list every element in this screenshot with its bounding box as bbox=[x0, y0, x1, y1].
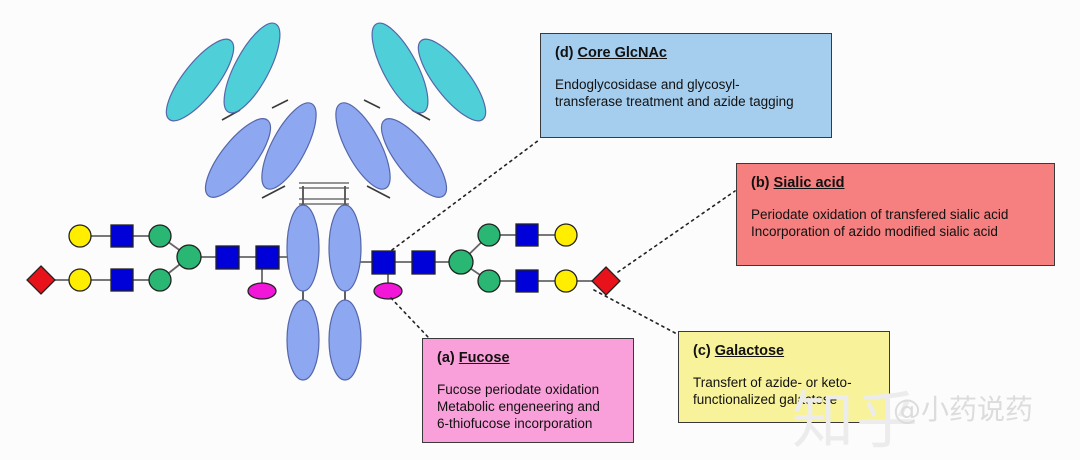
callout-tag: (c) bbox=[693, 343, 711, 359]
glycan-node-galactose bbox=[555, 224, 577, 246]
domain-ch3-left bbox=[287, 300, 319, 380]
connector-galactose-to-c bbox=[594, 290, 677, 334]
glycoengineering-figure: .dom { stroke: #5566aa; stroke-width: 1.… bbox=[0, 0, 1080, 458]
callout-body: Periodate oxidation of transfered sialic… bbox=[751, 206, 1040, 241]
callout-tag: (a) bbox=[437, 350, 455, 366]
glycan-node-mannose bbox=[478, 270, 500, 292]
glycan-node-mannose bbox=[478, 224, 500, 246]
domain-ch2-left bbox=[287, 205, 319, 291]
glycan-node-mannose bbox=[149, 269, 171, 291]
callout-tag: (b) bbox=[751, 175, 770, 191]
glycan-node-glcnac-core bbox=[372, 251, 395, 274]
callout-sialic-acid[interactable]: (b) Sialic acid Periodate oxidation of t… bbox=[736, 163, 1055, 266]
callout-title: (d) Core GlcNAc bbox=[555, 46, 817, 62]
hinge-disulfide-bonds bbox=[299, 183, 349, 204]
glycan-node-mannose-core bbox=[177, 245, 201, 269]
callout-name: Sialic acid bbox=[774, 175, 845, 191]
callout-title: (b) Sialic acid bbox=[751, 176, 1040, 192]
connector-sialic-to-b bbox=[618, 191, 735, 272]
callout-tag: (d) bbox=[555, 45, 574, 61]
callout-body: Transfert of azide- or keto- functionali… bbox=[693, 374, 875, 409]
glycan-node-galactose bbox=[69, 269, 91, 291]
callout-title: (a) Fucose bbox=[437, 351, 619, 367]
callout-title: (c) Galactose bbox=[693, 344, 875, 360]
glycan-node-mannose bbox=[149, 225, 171, 247]
glycan-node-galactose bbox=[69, 225, 91, 247]
glycan-right bbox=[360, 224, 620, 299]
glycan-left bbox=[27, 225, 288, 299]
callout-name: Fucose bbox=[459, 350, 510, 366]
callout-galactose[interactable]: (c) Galactose Transfert of azide- or ket… bbox=[678, 331, 890, 423]
glycan-node-glcnac bbox=[516, 224, 538, 246]
callout-name: Galactose bbox=[715, 343, 784, 359]
callout-body: Fucose periodate oxidation Metabolic eng… bbox=[437, 381, 619, 433]
glycan-node-glcnac bbox=[111, 269, 133, 291]
glycan-node-fucose bbox=[374, 283, 402, 299]
callout-core-glcnac[interactable]: (d) Core GlcNAc Endoglycosidase and glyc… bbox=[540, 33, 832, 138]
glycan-node-glcnac bbox=[111, 225, 133, 247]
glycan-node-fucose bbox=[248, 283, 276, 299]
domain-ch3-right bbox=[329, 300, 361, 380]
callout-fucose[interactable]: (a) Fucose Fucose periodate oxidation Me… bbox=[422, 338, 634, 443]
callout-name: Core GlcNAc bbox=[578, 45, 667, 61]
antibody-domains bbox=[156, 16, 496, 380]
callout-body: Endoglycosidase and glycosyl- transferas… bbox=[555, 76, 817, 111]
glycan-node-glcnac-core bbox=[216, 246, 239, 269]
domain-ch2-right bbox=[329, 205, 361, 291]
glycan-node-glcnac bbox=[516, 270, 538, 292]
glycan-node-glcnac-core bbox=[256, 246, 279, 269]
glycan-node-sialic-acid bbox=[27, 266, 55, 294]
connector-fucose-to-a bbox=[391, 298, 428, 337]
glycan-node-mannose-core bbox=[449, 250, 473, 274]
glycan-node-galactose bbox=[555, 270, 577, 292]
glycan-node-glcnac-core bbox=[412, 251, 435, 274]
